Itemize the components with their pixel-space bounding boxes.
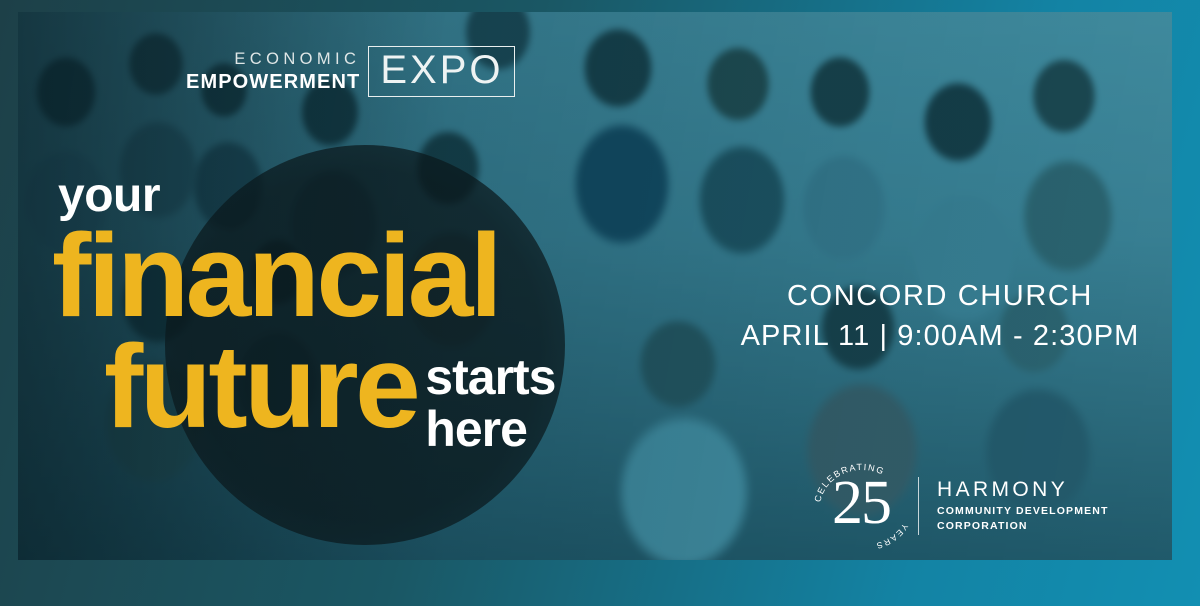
anniversary-number: 25: [812, 472, 910, 534]
sponsor-logo: CELEBRATING YEARS 25 HARMONY COMMUNITY D…: [812, 466, 1109, 546]
expo-logo: ECONOMIC EMPOWERMENT EXPO: [186, 46, 515, 97]
headline-word-starts: starts: [425, 351, 555, 403]
headline-second-row: future starts here: [52, 333, 555, 455]
event-details: CONCORD CHURCH APRIL 11 | 9:00AM - 2:30P…: [740, 278, 1140, 355]
headline-starts-here: starts here: [425, 351, 555, 455]
sponsor-descriptor-line2: CORPORATION: [937, 519, 1109, 533]
sponsor-name-block: HARMONY COMMUNITY DEVELOPMENT CORPORATIO…: [937, 479, 1109, 532]
expo-logo-line-economic: ECONOMIC: [234, 51, 360, 68]
headline: your financial future starts here: [52, 172, 555, 455]
headline-word-financial: financial: [52, 222, 555, 331]
expo-logo-word-expo: EXPO: [380, 50, 503, 90]
sponsor-logo-divider: [918, 477, 919, 535]
headline-word-here: here: [425, 403, 555, 455]
anniversary-badge: CELEBRATING YEARS 25: [812, 466, 910, 546]
sponsor-descriptor-line1: COMMUNITY DEVELOPMENT: [937, 504, 1109, 518]
event-venue: CONCORD CHURCH: [740, 278, 1140, 314]
event-datetime: APRIL 11 | 9:00AM - 2:30PM: [740, 318, 1140, 354]
expo-logo-words: ECONOMIC EMPOWERMENT: [186, 51, 360, 92]
expo-logo-box: EXPO: [368, 46, 515, 97]
headline-word-future: future: [104, 333, 417, 442]
sponsor-name: HARMONY: [937, 479, 1109, 500]
event-banner: ECONOMIC EMPOWERMENT EXPO your financial…: [0, 0, 1200, 606]
expo-logo-line-empowerment: EMPOWERMENT: [186, 72, 360, 92]
